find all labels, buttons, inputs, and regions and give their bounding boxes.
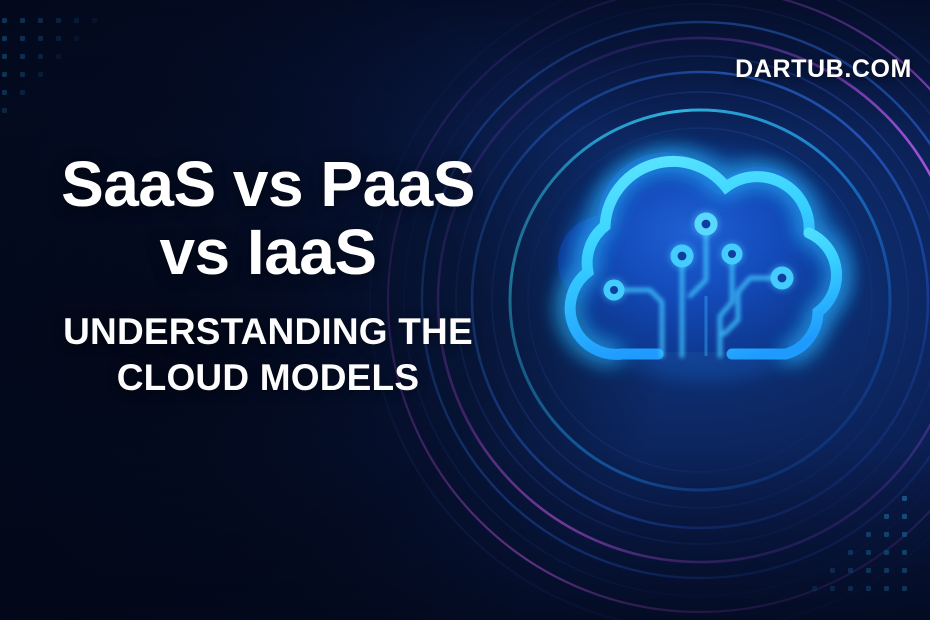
cloud-circuit-graphic <box>510 120 910 450</box>
subhead-line-1: UNDERSTANDING THE <box>63 311 473 352</box>
headline-line-2: vs IaaS <box>159 216 376 288</box>
headline-line-1: SaaS vs PaaS <box>61 148 475 220</box>
page-subtitle: UNDERSTANDING THE CLOUD MODELS <box>8 309 528 402</box>
hero-text-block: SaaS vs PaaS vs IaaS UNDERSTANDING THE C… <box>8 150 528 401</box>
poster-canvas: SaaS vs PaaS vs IaaS UNDERSTANDING THE C… <box>0 0 930 620</box>
brand-logo[interactable]: DARTUB.COM <box>735 55 912 84</box>
subhead-line-2: CLOUD MODELS <box>117 357 420 398</box>
page-title: SaaS vs PaaS vs IaaS <box>8 150 528 287</box>
